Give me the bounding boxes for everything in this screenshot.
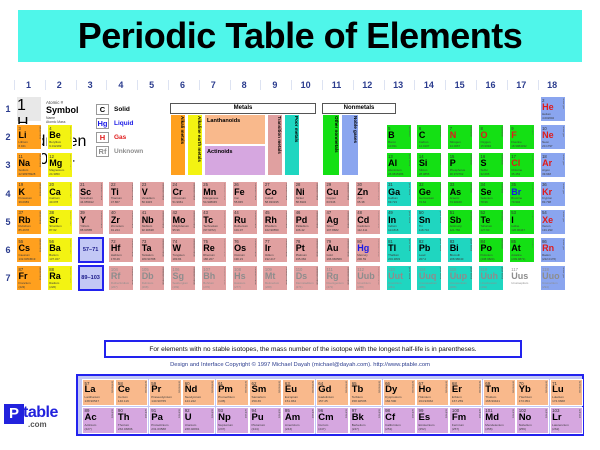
element-mass: 157.25 bbox=[318, 400, 327, 404]
element-cell-sg[interactable]: 106SgSeaborgium(269)transition metal bbox=[170, 265, 196, 291]
element-category-tag: transition metal bbox=[346, 183, 349, 201]
isotope-note-box: For elements with no stable isotopes, th… bbox=[104, 340, 522, 358]
f-element-cell-u[interactable]: 92UUranium238.02891actinoid bbox=[182, 407, 215, 434]
element-cell-rf[interactable]: 104RfRutherfordium(267)transition metal bbox=[108, 265, 134, 291]
element-symbol: Cr bbox=[173, 187, 183, 197]
element-symbol: Uuh bbox=[481, 271, 499, 281]
element-category-tag: transition metal bbox=[253, 183, 256, 201]
group-number-17: 17 bbox=[507, 80, 535, 90]
element-cell-ni[interactable]: 28NiNickel58.6934transition metal bbox=[293, 181, 319, 207]
element-cell-br[interactable]: 35BrBromine79.904halogen bbox=[509, 181, 535, 207]
element-symbol: Gd bbox=[318, 385, 331, 395]
element-symbol: Pr bbox=[151, 385, 161, 395]
element-category-tag: lanthanoid bbox=[177, 381, 180, 393]
element-cell-uus[interactable]: 117UusUnunseptium bbox=[509, 265, 535, 291]
element-mass: (208.9824) bbox=[481, 258, 495, 261]
element-mass: 63.546 bbox=[327, 201, 336, 204]
element-cell-n[interactable]: 7NNitrogen14.0067nonmetal bbox=[447, 124, 473, 150]
f-element-cell-cm[interactable]: 96CmCurium(247)actinoid bbox=[316, 407, 349, 434]
element-category-tag: actinoid bbox=[144, 409, 147, 418]
element-cell-sr[interactable]: 38SrStrontium87.62alkaline earth bbox=[47, 209, 73, 235]
f-element-cell-fm[interactable]: 100FmFermium(257)actinoid bbox=[449, 407, 482, 434]
page-title-banner: Periodic Table of Elements bbox=[18, 10, 582, 62]
element-category-tag: metalloid bbox=[469, 211, 472, 221]
element-cell-f[interactable]: 9FFluorine18.9984032halogen bbox=[509, 124, 535, 150]
element-cell-tc[interactable]: 43TcTechnetium(97.9072)transition metal bbox=[201, 209, 227, 235]
element-mass: 14.0067 bbox=[450, 145, 460, 148]
element-mass: 195.084 bbox=[296, 258, 306, 261]
f-element-cell-tm[interactable]: 69TmThulium168.93421lanthanoid bbox=[483, 379, 516, 406]
element-cell-ne[interactable]: 10NeNeon20.1797noble gas bbox=[540, 124, 566, 150]
element-category-tag: actinoid bbox=[244, 409, 247, 418]
element-mass: (272) bbox=[327, 286, 334, 289]
element-symbol: Lu bbox=[552, 385, 564, 395]
element-cell-y[interactable]: 39YYttrium88.90585transition metal bbox=[78, 209, 104, 235]
element-mass: 12.0107 bbox=[419, 145, 429, 148]
element-cell-bi[interactable]: 83BiBismuth208.98040poor metal bbox=[447, 237, 473, 263]
period-number-5: 5 bbox=[2, 217, 14, 227]
element-category-tag: actinoid bbox=[511, 409, 514, 418]
element-category-tag: transition metal bbox=[346, 267, 349, 285]
element-mass: 79.904 bbox=[511, 201, 520, 204]
element-symbol: Fm bbox=[452, 413, 466, 423]
element-category-tag: transition metal bbox=[222, 183, 225, 201]
element-mass: 127.60 bbox=[481, 229, 490, 232]
group-number-4: 4 bbox=[106, 80, 134, 90]
element-symbol: Ne bbox=[542, 130, 554, 140]
element-category-tag: noble gas bbox=[561, 126, 564, 137]
f-element-cell-pr[interactable]: 59PrPraseodymium140.90765lanthanoid bbox=[149, 379, 182, 406]
element-symbol: Ag bbox=[327, 215, 339, 225]
element-category-tag: lanthanoid bbox=[578, 381, 581, 393]
element-category-tag: halogen bbox=[530, 211, 533, 220]
element-category-tag: poor metal bbox=[407, 211, 410, 223]
element-cell-ru[interactable]: 44RuRuthenium101.07transition metal bbox=[232, 209, 258, 235]
f-element-cell-tb[interactable]: 65TbTerbium158.92535lanthanoid bbox=[349, 379, 382, 406]
element-category-tag: alkali metal bbox=[38, 211, 41, 224]
element-symbol: Y bbox=[80, 215, 86, 225]
element-cell-rg[interactable]: 111RgRoentgenium(272)transition metal bbox=[324, 265, 350, 291]
f-element-cell-pm[interactable]: 61PmPromethium(145)lanthanoid bbox=[216, 379, 249, 406]
f-element-cell-nd[interactable]: 60NdNeodymium144.242lanthanoid bbox=[182, 379, 215, 406]
element-category-tag: lanthanoid bbox=[445, 381, 448, 393]
element-category-tag: poor metal bbox=[438, 267, 441, 279]
element-symbol: Eu bbox=[285, 385, 297, 395]
group-number-18: 18 bbox=[538, 80, 566, 90]
element-symbol: Uub bbox=[357, 271, 375, 281]
logo-com-text: .com bbox=[28, 420, 47, 429]
element-mass: 35.453 bbox=[511, 173, 520, 176]
element-mass: 114.818 bbox=[388, 229, 398, 232]
element-cell-o[interactable]: 8OOxygen15.9994nonmetal bbox=[478, 124, 504, 150]
element-cell-pb[interactable]: 82PbLead207.2poor metal bbox=[416, 237, 442, 263]
f-element-cell-er[interactable]: 68ErErbium167.259lanthanoid bbox=[449, 379, 482, 406]
element-cell-re[interactable]: 75ReRhenium186.207transition metal bbox=[201, 237, 227, 263]
element-cell-rn[interactable]: 86RnRadon(222.0176)noble gas bbox=[540, 237, 566, 263]
element-mass: 207.2 bbox=[419, 258, 426, 261]
element-mass: 168.93421 bbox=[485, 400, 500, 404]
element-symbol: Ba bbox=[49, 243, 61, 253]
f-element-cell-am[interactable]: 95AmAmericium(243)actinoid bbox=[282, 407, 315, 434]
element-symbol: Rh bbox=[265, 215, 277, 225]
category-swatch-poor-metals: Poor metals bbox=[284, 114, 300, 176]
element-category-tag: alkali metal bbox=[38, 126, 41, 139]
element-category-tag: alkaline earth bbox=[68, 239, 71, 254]
element-symbol: Xe bbox=[542, 215, 553, 225]
element-cell-ds[interactable]: 110DsDarmstadtium(271)transition metal bbox=[293, 265, 319, 291]
element-symbol: Sn bbox=[419, 215, 431, 225]
element-cell-db[interactable]: 105DbDubnium(268)transition metal bbox=[139, 265, 165, 291]
period-number-2: 2 bbox=[2, 132, 14, 142]
element-category-tag: transition metal bbox=[284, 183, 287, 201]
element-symbol: Bk bbox=[352, 413, 364, 423]
element-mass: 180.94788 bbox=[142, 258, 156, 261]
element-mass: 40.078 bbox=[49, 201, 58, 204]
element-category-tag: noble gas bbox=[561, 267, 564, 278]
element-mass: 231.03588 bbox=[151, 428, 166, 432]
element-symbol: Pm bbox=[218, 385, 233, 395]
f-element-cell-ce[interactable]: 58CeCerium140.116lanthanoid bbox=[115, 379, 148, 406]
element-cell-ca[interactable]: 20CaCalcium40.078alkaline earth bbox=[47, 181, 73, 207]
element-category-tag: lanthanoid bbox=[478, 381, 481, 393]
element-mass: 88.90585 bbox=[80, 229, 92, 232]
element-category-tag: noble gas bbox=[561, 211, 564, 222]
element-mass: 126.90447 bbox=[511, 229, 525, 232]
series-placeholder-lanthanoids[interactable]: 57–71 bbox=[78, 237, 104, 263]
group-number-12: 12 bbox=[353, 80, 381, 90]
element-cell-ba[interactable]: 56BaBarium137.327alkaline earth bbox=[47, 237, 73, 263]
element-cell-si[interactable]: 14SiSilicon28.0855metalloid bbox=[416, 152, 442, 178]
element-mass: 107.8682 bbox=[327, 229, 339, 232]
element-mass: (267) bbox=[111, 286, 118, 289]
element-symbol: Pd bbox=[296, 215, 308, 225]
element-category-tag: poor metal bbox=[469, 267, 472, 279]
element-mass: 78.96 bbox=[481, 201, 488, 204]
f-element-cell-es[interactable]: 99EsEinsteinium(252)actinoid bbox=[416, 407, 449, 434]
f-element-cell-yb[interactable]: 70YbYtterbium173.054lanthanoid bbox=[516, 379, 549, 406]
element-symbol: Al bbox=[388, 158, 397, 168]
element-category-tag: alkaline earth bbox=[68, 154, 71, 169]
element-cell-cu[interactable]: 29CuCopper63.546transition metal bbox=[324, 181, 350, 207]
element-cell-p[interactable]: 15PPhosphorus30.973762nonmetal bbox=[447, 152, 473, 178]
element-cell-na[interactable]: 11NaSodium22.98976928alkali metal bbox=[16, 152, 42, 178]
element-symbol: Fe bbox=[234, 187, 245, 197]
element-symbol: Uus bbox=[511, 271, 528, 281]
element-symbol: S bbox=[481, 158, 487, 168]
element-category-tag: transition metal bbox=[192, 267, 195, 285]
element-cell-as[interactable]: 33AsArsenic74.92160metalloid bbox=[447, 181, 473, 207]
key-label-mass: Atomic Mass bbox=[46, 120, 65, 124]
group-number-8: 8 bbox=[230, 80, 258, 90]
element-symbol: Ge bbox=[419, 187, 431, 197]
element-category-tag: transition metal bbox=[130, 239, 133, 257]
element-symbol: Rf bbox=[111, 271, 121, 281]
element-cell-hs[interactable]: 108HsHassium(277)transition metal bbox=[232, 265, 258, 291]
element-cell-ir[interactable]: 77IrIridium192.217transition metal bbox=[262, 237, 288, 263]
element-symbol: C bbox=[419, 130, 426, 140]
element-mass: 74.92160 bbox=[450, 201, 462, 204]
element-cell-fe[interactable]: 26FeIron55.845transition metal bbox=[232, 181, 258, 207]
element-symbol: Mt bbox=[265, 271, 276, 281]
element-cell-uub[interactable]: 112UubUnunbium(285)transition metal bbox=[355, 265, 381, 291]
element-category-tag: metalloid bbox=[500, 211, 503, 221]
element-symbol: In bbox=[388, 215, 396, 225]
element-cell-hf[interactable]: 72HfHafnium178.49transition metal bbox=[108, 237, 134, 263]
element-cell-au[interactable]: 79AuGold196.966569transition metal bbox=[324, 237, 350, 263]
element-mass: 10.811 bbox=[388, 145, 397, 148]
element-symbol: Ir bbox=[265, 243, 271, 253]
f-element-cell-lr[interactable]: 103LrLawrencium(262)actinoid bbox=[550, 407, 583, 434]
element-cell-te[interactable]: 52TeTellurium127.60metalloid bbox=[478, 209, 504, 235]
element-mass: 140.90765 bbox=[151, 400, 166, 404]
state-label-gas: Gas bbox=[114, 132, 126, 143]
f-element-cell-ho[interactable]: 67HoHolmium164.93032lanthanoid bbox=[416, 379, 449, 406]
period-number-3: 3 bbox=[2, 160, 14, 170]
element-cell-li[interactable]: 3LiLithium6.941alkali metal bbox=[16, 124, 42, 150]
element-mass: (237) bbox=[218, 428, 225, 432]
f-element-cell-md[interactable]: 101MdMendelevium(258)actinoid bbox=[483, 407, 516, 434]
group-number-9: 9 bbox=[260, 80, 288, 90]
element-cell-zn[interactable]: 30ZnZinc65.38transition metal bbox=[355, 181, 381, 207]
element-cell-fr[interactable]: 87FrFrancium(223)alkali metal bbox=[16, 265, 42, 291]
element-mass: (226) bbox=[49, 286, 56, 289]
element-cell-kr[interactable]: 36KrKrypton83.798noble gas bbox=[540, 181, 566, 207]
element-mass: 50.9415 bbox=[142, 201, 152, 204]
element-category-tag: alkali metal bbox=[38, 183, 41, 196]
element-cell-cl[interactable]: 17ClChlorine35.453halogen bbox=[509, 152, 535, 178]
element-category-tag: nonmetal bbox=[469, 154, 472, 165]
element-mass: 232.03806 bbox=[118, 428, 133, 432]
element-mass: 91.224 bbox=[111, 229, 120, 232]
element-symbol: Am bbox=[285, 413, 300, 423]
element-category-tag: poor metal bbox=[438, 211, 441, 223]
element-cell-ag[interactable]: 47AgSilver107.8682transition metal bbox=[324, 209, 350, 235]
element-mass: (292) bbox=[481, 286, 488, 289]
element-symbol: O bbox=[481, 130, 488, 140]
group-number-14: 14 bbox=[414, 80, 442, 90]
element-cell-ga[interactable]: 31GaGallium69.723poor metal bbox=[386, 181, 412, 207]
ptable-logo[interactable]: P table .com bbox=[4, 404, 70, 436]
element-category-tag: lanthanoid bbox=[144, 381, 147, 393]
element-mass: (223) bbox=[19, 286, 26, 289]
element-mass: (209.9871) bbox=[511, 258, 525, 261]
element-category-tag: transition metal bbox=[130, 183, 133, 201]
element-symbol: I bbox=[511, 215, 514, 225]
f-element-cell-eu[interactable]: 63EuEuropium151.964lanthanoid bbox=[282, 379, 315, 406]
element-symbol: Rb bbox=[19, 215, 31, 225]
element-symbol: Cm bbox=[318, 413, 333, 423]
element-symbol: V bbox=[142, 187, 148, 197]
element-mass: 144.242 bbox=[185, 400, 196, 404]
periodic-table-page: Periodic Table of Elements 1234567891011… bbox=[0, 0, 600, 450]
element-cell-co[interactable]: 27CoCobalt58.933195transition metal bbox=[262, 181, 288, 207]
element-cell-at[interactable]: 85AtAstatine(209.9871)halogen bbox=[509, 237, 535, 263]
element-category-tag: transition metal bbox=[192, 239, 195, 257]
element-mass: 28.0855 bbox=[419, 173, 429, 176]
element-mass: (145) bbox=[218, 400, 225, 404]
element-mass: 30.973762 bbox=[450, 173, 464, 176]
element-symbol: Tb bbox=[352, 385, 364, 395]
group-number-16: 16 bbox=[476, 80, 504, 90]
element-cell-se[interactable]: 34SeSelenium78.96nonmetal bbox=[478, 181, 504, 207]
element-cell-zr[interactable]: 40ZrZirconium91.224transition metal bbox=[108, 209, 134, 235]
element-symbol: Uup bbox=[450, 271, 468, 281]
element-cell-uuh[interactable]: 116UuhUnunhexium(292)poor metal bbox=[478, 265, 504, 291]
element-category-tag: actinoid bbox=[211, 409, 214, 418]
element-category-tag: transition metal bbox=[222, 211, 225, 229]
element-symbol: Hs bbox=[234, 271, 246, 281]
element-cell-cs[interactable]: 55CsCaesium132.9054519alkali metal bbox=[16, 237, 42, 263]
element-mass: 204.3833 bbox=[388, 258, 400, 261]
element-category-tag: actinoid bbox=[177, 409, 180, 418]
element-cell-ti[interactable]: 22TiTitanium47.867transition metal bbox=[108, 181, 134, 207]
element-cell-v[interactable]: 23VVanadium50.9415transition metal bbox=[139, 181, 165, 207]
element-symbol: Dy bbox=[385, 385, 397, 395]
logo-p-mark: P bbox=[4, 404, 24, 424]
element-mass: (285) bbox=[357, 286, 364, 289]
element-cell-ta[interactable]: 73TaTantalum180.94788transition metal bbox=[139, 237, 165, 263]
element-category-tag: poor metal bbox=[407, 183, 410, 195]
element-cell-pt[interactable]: 78PtPlatinum195.084transition metal bbox=[293, 237, 319, 263]
state-symbol-gas: H bbox=[96, 132, 109, 143]
element-mass: 150.36 bbox=[252, 400, 261, 404]
element-cell-uup[interactable]: 115UupUnunpentium(288)poor metal bbox=[447, 265, 473, 291]
element-cell-os[interactable]: 76OsOsmium190.23transition metal bbox=[232, 237, 258, 263]
element-mass: (271) bbox=[296, 286, 303, 289]
f-element-cell-ac[interactable]: 89AcActinium(227)actinoid bbox=[82, 407, 115, 434]
f-element-cell-no[interactable]: 102NoNobelium(259)actinoid bbox=[516, 407, 549, 434]
element-cell-k[interactable]: 19KPotassium39.0983alkali metal bbox=[16, 181, 42, 207]
element-cell-b[interactable]: 5BBoron10.811metalloid bbox=[386, 124, 412, 150]
element-category-tag: halogen bbox=[530, 126, 533, 135]
f-element-cell-sm[interactable]: 62SmSamarium150.36lanthanoid bbox=[249, 379, 282, 406]
element-symbol: Nd bbox=[185, 385, 198, 395]
element-cell-be[interactable]: 4BeBeryllium9.012182alkaline earth bbox=[47, 124, 73, 150]
element-symbol: Md bbox=[485, 413, 499, 423]
element-cell-mo[interactable]: 42MoMolybdenum95.96transition metal bbox=[170, 209, 196, 235]
element-category-tag: lanthanoid bbox=[511, 381, 514, 393]
element-category-tag: transition metal bbox=[284, 211, 287, 229]
element-cell-pd[interactable]: 46PdPalladium106.42transition metal bbox=[293, 209, 319, 235]
f-element-cell-dy[interactable]: 66DyDysprosium162.500lanthanoid bbox=[383, 379, 416, 406]
element-mass: (257) bbox=[452, 428, 459, 432]
element-cell-uuq[interactable]: 114UuqUnunquadium(289)poor metal bbox=[416, 265, 442, 291]
group-number-11: 11 bbox=[322, 80, 350, 90]
element-cell-mg[interactable]: 12MgMagnesium24.3050alkaline earth bbox=[47, 152, 73, 178]
element-symbol: Mn bbox=[203, 187, 216, 197]
f-element-cell-cf[interactable]: 98CfCalifornium(251)actinoid bbox=[383, 407, 416, 434]
group-number-1: 1 bbox=[14, 80, 42, 90]
element-cell-in[interactable]: 49InIndium114.818poor metal bbox=[386, 209, 412, 235]
element-cell-uuo[interactable]: 118UuoUnunoctium(294)noble gas bbox=[540, 265, 566, 291]
group-number-2: 2 bbox=[45, 80, 73, 90]
element-cell-hg[interactable]: 80HgMercury200.59transition metal bbox=[355, 237, 381, 263]
element-cell-ge[interactable]: 32GeGermanium72.64metalloid bbox=[416, 181, 442, 207]
element-cell-rb[interactable]: 37RbRubidium85.4678alkali metal bbox=[16, 209, 42, 235]
f-element-cell-la[interactable]: 57LaLanthanum138.90547lanthanoid bbox=[82, 379, 115, 406]
element-category-tag: transition metal bbox=[99, 211, 102, 229]
element-symbol: Se bbox=[481, 187, 492, 197]
element-cell-cr[interactable]: 24CrChromium51.9961transition metal bbox=[170, 181, 196, 207]
element-cell-rh[interactable]: 45RhRhodium102.90550transition metal bbox=[262, 209, 288, 235]
element-symbol: As bbox=[450, 187, 462, 197]
element-symbol: Rg bbox=[327, 271, 339, 281]
element-category-tag: poor metal bbox=[438, 239, 441, 251]
category-label-lanthanoids: Lanthanoids bbox=[207, 118, 240, 124]
element-mass: (227) bbox=[85, 428, 92, 432]
element-cell-tl[interactable]: 81TlThallium204.3833poor metal bbox=[386, 237, 412, 263]
element-symbol: Pa bbox=[151, 413, 163, 423]
element-mass: 9.012182 bbox=[49, 145, 61, 148]
element-mass: 26.9815386 bbox=[388, 173, 403, 176]
element-category-tag: poor metal bbox=[407, 154, 410, 166]
element-cell-mn[interactable]: 25MnManganese54.938045transition metal bbox=[201, 181, 227, 207]
element-cell-c[interactable]: 6CCarbon12.0107nonmetal bbox=[416, 124, 442, 150]
element-cell-po[interactable]: 84PoPolonium(208.9824)metalloid bbox=[478, 237, 504, 263]
element-category-tag: lanthanoid bbox=[278, 381, 281, 393]
f-element-cell-bk[interactable]: 97BkBerkelium(247)actinoid bbox=[349, 407, 382, 434]
series-placeholder-actinoids[interactable]: 89–103 bbox=[78, 265, 104, 291]
f-block-panel: 57LaLanthanum138.90547lanthanoid58CeCeri… bbox=[76, 374, 584, 436]
element-category-tag: alkaline earth bbox=[68, 267, 71, 282]
element-category-tag: actinoid bbox=[411, 409, 414, 418]
element-cell-cd[interactable]: 48CdCadmium112.411transition metal bbox=[355, 209, 381, 235]
f-element-cell-pa[interactable]: 91PaProtactinium231.03588actinoid bbox=[149, 407, 182, 434]
element-category-tag: transition metal bbox=[130, 211, 133, 229]
element-cell-s[interactable]: 16SSulfur32.065nonmetal bbox=[478, 152, 504, 178]
f-element-cell-th[interactable]: 90ThThorium232.03806actinoid bbox=[115, 407, 148, 434]
element-category-tag: lanthanoid bbox=[244, 381, 247, 393]
period-number-1: 1 bbox=[2, 104, 14, 114]
element-cell-xe[interactable]: 54XeXenon131.293noble gas bbox=[540, 209, 566, 235]
element-cell-sb[interactable]: 51SbAntimony121.760metalloid bbox=[447, 209, 473, 235]
element-cell-w[interactable]: 74WTungsten183.84transition metal bbox=[170, 237, 196, 263]
element-symbol: Re bbox=[203, 243, 215, 253]
element-mass: 238.02891 bbox=[185, 428, 200, 432]
element-mass: (268) bbox=[265, 286, 272, 289]
element-cell-ar[interactable]: 18ArArgon39.948noble gas bbox=[540, 152, 566, 178]
element-cell-sn[interactable]: 50SnTin118.710poor metal bbox=[416, 209, 442, 235]
element-cell-al[interactable]: 13AlAluminium26.9815386poor metal bbox=[386, 152, 412, 178]
element-category-tag: transition metal bbox=[346, 239, 349, 257]
element-cell-i[interactable]: 53IIodine126.90447halogen bbox=[509, 209, 535, 235]
state-label-liquid: Liquid bbox=[114, 118, 134, 129]
element-category-tag: lanthanoid bbox=[344, 381, 347, 393]
element-category-tag: lanthanoid bbox=[211, 381, 214, 393]
element-symbol: Co bbox=[265, 187, 277, 197]
category-label-alkaline-earth-metals: Alkaline earth metals bbox=[188, 116, 202, 162]
element-cell-ra[interactable]: 88RaRadium(226)alkaline earth bbox=[47, 265, 73, 291]
element-cell-bh[interactable]: 107BhBohrium(270)transition metal bbox=[201, 265, 227, 291]
f-element-cell-lu[interactable]: 71LuLutetium174.9668lanthanoid bbox=[550, 379, 583, 406]
element-cell-nb[interactable]: 41NbNiobium92.90638transition metal bbox=[139, 209, 165, 235]
element-mass: 54.938045 bbox=[203, 201, 217, 204]
element-cell-he[interactable]: 2HeHelium4.002602noble gas bbox=[540, 96, 566, 122]
f-element-cell-np[interactable]: 93NpNeptunium(237)actinoid bbox=[216, 407, 249, 434]
element-category-tag: actinoid bbox=[378, 409, 381, 418]
element-cell-uut[interactable]: 113UutUnuntrium(284)poor metal bbox=[386, 265, 412, 291]
element-mass: 196.966569 bbox=[327, 258, 342, 261]
element-symbol: F bbox=[511, 130, 517, 140]
f-element-cell-gd[interactable]: 64GdGadolinium157.25lanthanoid bbox=[316, 379, 349, 406]
f-element-cell-pu[interactable]: 94PuPlutonium(244)actinoid bbox=[249, 407, 282, 434]
element-mass: 47.867 bbox=[111, 201, 120, 204]
element-category-tag: nonmetal bbox=[500, 126, 503, 137]
element-cell-sc[interactable]: 21ScScandium44.955912transition metal bbox=[78, 181, 104, 207]
element-category-tag: halogen bbox=[530, 154, 533, 163]
group-number-10: 10 bbox=[291, 80, 319, 90]
element-cell-mt[interactable]: 109MtMeitnerium(268)transition metal bbox=[262, 265, 288, 291]
